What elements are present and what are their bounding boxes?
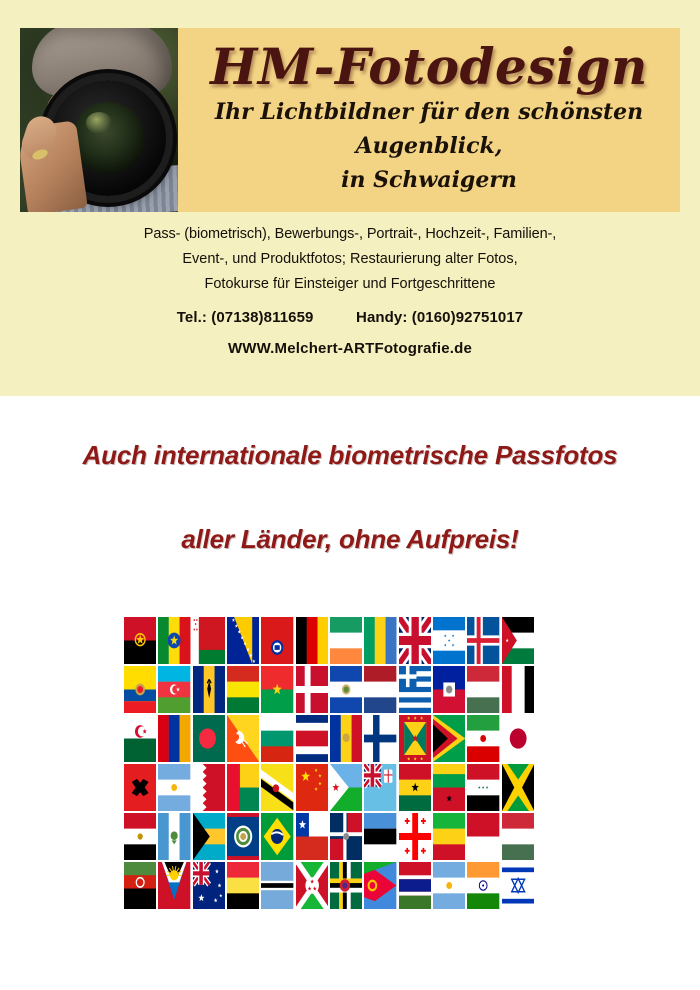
flag-guinea-bissau	[433, 764, 465, 811]
flag-ecuador	[124, 666, 156, 713]
flag-india	[467, 862, 499, 909]
flag-argentina	[158, 764, 190, 811]
contact-row: Tel.: (07138)811659 Handy: (0160)9275101…	[20, 309, 680, 326]
flag-japan	[502, 715, 534, 762]
flag-costa-rica	[296, 715, 328, 762]
flag-bahamas	[193, 813, 225, 860]
flag-bolivia	[227, 666, 259, 713]
flag-eritrea	[364, 862, 396, 909]
flag-angola	[124, 617, 156, 664]
services-line-1: Pass- (biometrisch), Bewerbungs-, Portra…	[20, 222, 680, 247]
flag-greece	[399, 666, 431, 713]
flag-australia	[193, 862, 225, 909]
flag-barbados	[193, 666, 225, 713]
flag-fiji	[364, 764, 396, 811]
flag-united-kingdom	[399, 617, 431, 664]
flag-bahrain	[193, 764, 225, 811]
flag-bosnia-and-herzegovina	[227, 617, 259, 664]
flag-brazil	[261, 813, 293, 860]
flag-burkina-faso	[261, 666, 293, 713]
flag-bulgaria	[261, 715, 293, 762]
tagline-line-1: Ihr Lichtbildner für den schönsten	[188, 98, 670, 126]
flag-albania	[124, 764, 156, 811]
flag-brunei	[261, 764, 293, 811]
flag-belgium	[227, 862, 259, 909]
flag-hungary	[502, 813, 534, 860]
flag-denmark	[296, 666, 328, 713]
flag-mali	[433, 813, 465, 860]
header-band: HM-Fotodesign Ihr Lichtbildner für den s…	[20, 28, 680, 212]
flag-chile	[296, 813, 328, 860]
flag-belarus	[193, 617, 225, 664]
flag-ghana	[399, 764, 431, 811]
flag-jamaica	[502, 764, 534, 811]
brand-title: HM-Fotodesign	[188, 42, 670, 92]
flag-jordan	[502, 617, 534, 664]
flag-grid	[124, 617, 534, 909]
title-block: HM-Fotodesign Ihr Lichtbildner für den s…	[178, 28, 680, 212]
flag-grenada	[399, 715, 431, 762]
flag-botswana	[261, 862, 293, 909]
mobile-number: Handy: (0160)92751017	[356, 309, 523, 326]
flag-china	[296, 764, 328, 811]
flag-azerbaijan	[158, 666, 190, 713]
flag-gabon	[364, 617, 396, 664]
flag-dominica	[330, 862, 362, 909]
flag-belize	[227, 813, 259, 860]
flag-ethiopia	[158, 617, 190, 664]
flag-bangladesh	[193, 715, 225, 762]
flag-gambia	[399, 862, 431, 909]
flag-honduras	[433, 617, 465, 664]
flag-argentina	[433, 862, 465, 909]
flag-finland	[364, 715, 396, 762]
flag-antigua-and-barbuda	[158, 862, 190, 909]
flag-guatemala	[158, 813, 190, 860]
flag-bhutan	[227, 715, 259, 762]
flyer-page: HM-Fotodesign Ihr Lichtbildner für den s…	[0, 0, 700, 990]
flag-georgia	[399, 813, 431, 860]
flag-estonia	[364, 813, 396, 860]
promo-headline-1: Auch internationale biometrische Passfot…	[0, 440, 700, 471]
flag-iraq	[467, 764, 499, 811]
tagline-line-2: Augenblick,	[188, 132, 670, 160]
flag-indonesia	[467, 813, 499, 860]
camera-lens-reflection	[86, 112, 112, 134]
flag-netherlands	[364, 666, 396, 713]
flag-iran	[467, 715, 499, 762]
flag-yemen	[502, 666, 534, 713]
services-line-3: Fotokurse für Einsteiger und Fortgeschri…	[20, 272, 680, 297]
flag-cambodia	[261, 617, 293, 664]
flag-guyana	[433, 715, 465, 762]
flag-djibouti	[330, 764, 362, 811]
flag-israel	[502, 862, 534, 909]
flag-armenia	[158, 715, 190, 762]
flag-dominican-republic	[330, 813, 362, 860]
promo-headline-2: aller Länder, ohne Aufpreis!	[0, 524, 700, 555]
flag-benin	[227, 764, 259, 811]
flag-hungary	[467, 666, 499, 713]
phone-number: Tel.: (07138)811659	[177, 309, 314, 326]
flag-colombia	[330, 715, 362, 762]
camera-lens-glass	[72, 102, 144, 174]
flag-germany	[296, 617, 328, 664]
flag-egypt	[124, 813, 156, 860]
flag-iceland	[467, 617, 499, 664]
flag-haiti	[433, 666, 465, 713]
flag-afghanistan	[124, 862, 156, 909]
flag-burundi	[296, 862, 328, 909]
flag-ireland	[330, 617, 362, 664]
services-line-2: Event-, und Produktfotos; Restaurierung …	[20, 247, 680, 272]
tagline-line-3: in Schwaigern	[188, 166, 670, 194]
photographer-photo	[20, 28, 178, 212]
flag-el-salvador	[330, 666, 362, 713]
website-link[interactable]: WWW.Melchert-ARTFotografie.de	[20, 340, 680, 357]
services-block: Pass- (biometrisch), Bewerbungs-, Portra…	[20, 222, 680, 357]
flag-collage-panel	[120, 613, 538, 918]
flag-algeria	[124, 715, 156, 762]
